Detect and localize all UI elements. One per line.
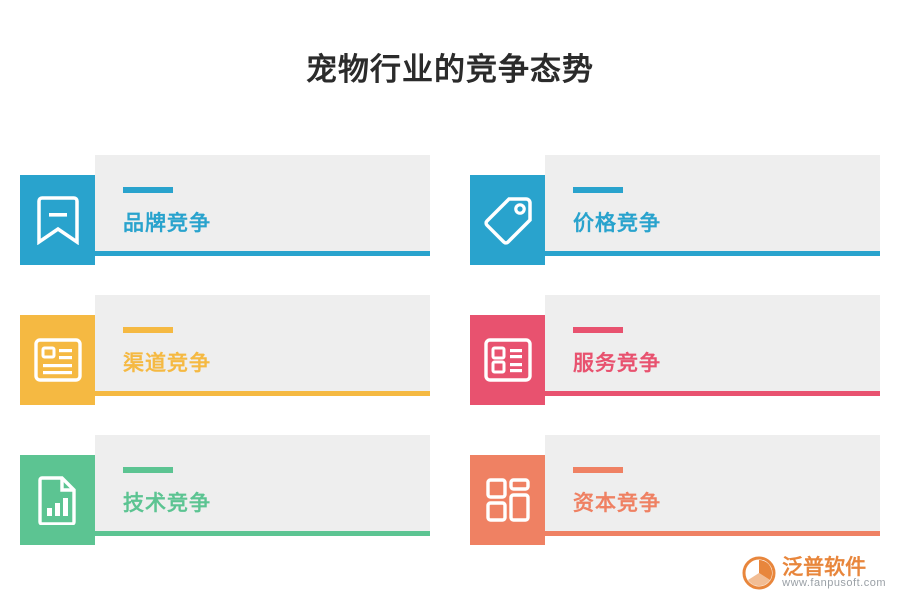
brand-url: www.fanpusoft.com: [782, 578, 886, 590]
card-channel-competition[interactable]: 渠道竞争: [20, 295, 430, 405]
card-tick: [123, 187, 173, 193]
card-tick: [123, 327, 173, 333]
card-label: 资本竞争: [573, 487, 873, 517]
card-label: 品牌竞争: [123, 207, 423, 237]
chart-document-icon: [36, 475, 80, 525]
card-tick: [573, 467, 623, 473]
card-capital-competition[interactable]: 资本竞争: [470, 435, 880, 545]
fanpu-logo-icon: [742, 556, 776, 590]
brand-logo: 泛普软件 www.fanpusoft.com: [742, 556, 886, 590]
card-price-competition[interactable]: 价格竞争: [470, 155, 880, 265]
cards-grid: 品牌竞争 价格竞争: [20, 155, 880, 555]
card-icon-block: [470, 455, 545, 545]
list-card-icon: [483, 337, 533, 383]
card-underline: [95, 531, 430, 536]
card-icon-block: [20, 455, 95, 545]
brand-logo-text: 泛普软件 www.fanpusoft.com: [782, 556, 886, 590]
card-service-competition[interactable]: 服务竞争: [470, 295, 880, 405]
card-icon-block: [20, 315, 95, 405]
card-underline: [545, 251, 880, 256]
card-underline: [545, 391, 880, 396]
card-label: 服务竞争: [573, 347, 873, 377]
card-tick: [123, 467, 173, 473]
page-title: 宠物行业的竞争态势: [0, 44, 900, 89]
card-icon-block: [20, 175, 95, 265]
card-underline: [545, 531, 880, 536]
id-card-icon: [33, 337, 83, 383]
card-label: 技术竞争: [123, 487, 423, 517]
card-icon-block: [470, 175, 545, 265]
card-label: 渠道竞争: [123, 347, 423, 377]
card-brand-competition[interactable]: 品牌竞争: [20, 155, 430, 265]
card-underline: [95, 391, 430, 396]
card-underline: [95, 251, 430, 256]
card-tick: [573, 327, 623, 333]
card-icon-block: [470, 315, 545, 405]
grid-blocks-icon: [484, 476, 532, 524]
card-label: 价格竞争: [573, 207, 873, 237]
brand-name: 泛普软件: [782, 556, 886, 578]
card-tick: [573, 187, 623, 193]
bookmark-icon: [36, 195, 80, 245]
card-technology-competition[interactable]: 技术竞争: [20, 435, 430, 545]
tag-icon: [482, 195, 534, 245]
